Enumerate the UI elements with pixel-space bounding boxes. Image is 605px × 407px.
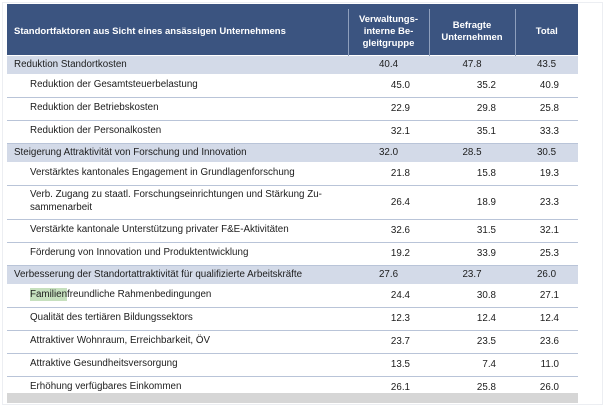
value-cell-total: 26.0 — [515, 265, 578, 284]
value-cell-verwaltung: 24.4 — [348, 284, 429, 307]
table-row: Qualität des tertiären Bildungssektors12… — [7, 307, 578, 330]
value-cell-total: 23.6 — [515, 330, 578, 353]
group-label-cell: Reduktion Standortkosten — [7, 55, 348, 74]
column-header-unternehmen-line-1: Befragte — [453, 20, 492, 31]
row-label-cell: Reduktion der Personalkosten — [7, 120, 348, 143]
table-row: Familienfreundliche Rahmenbedingungen24.… — [7, 284, 578, 307]
value-cell-unternehmen: 47.8 — [429, 55, 515, 74]
column-header-unternehmen: Befragte Unternehmen — [429, 9, 515, 55]
table-row: Verstärktes kantonales Engagement in Gru… — [7, 162, 578, 185]
column-header-unternehmen-line-2: Unternehmen — [441, 32, 502, 43]
table-row: Attraktive Gesundheitsversorgung13.57.41… — [7, 353, 578, 376]
table-container: Standortfaktoren aus Sicht eines ansässi… — [7, 4, 578, 400]
value-cell-verwaltung: 23.7 — [348, 330, 429, 353]
column-header-label: Standortfaktoren aus Sicht eines ansässi… — [7, 9, 348, 55]
value-cell-verwaltung: 12.3 — [348, 307, 429, 330]
value-cell-verwaltung: 32.6 — [348, 219, 429, 242]
value-cell-unternehmen: 35.1 — [429, 120, 515, 143]
table-group-row: Steigerung Attraktivität von Forschung u… — [7, 143, 578, 162]
value-cell-total: 25.8 — [515, 97, 578, 120]
row-label-cell: Förderung von Innovation und Produktentw… — [7, 242, 348, 265]
figure-canvas: Standortfaktoren aus Sicht eines ansässi… — [0, 0, 605, 407]
value-cell-unternehmen: 30.8 — [429, 284, 515, 307]
value-cell-total: 43.5 — [515, 55, 578, 74]
highlighted-text: Familien — [30, 288, 67, 301]
value-cell-total: 19.3 — [515, 162, 578, 185]
value-cell-total: 32.1 — [515, 219, 578, 242]
value-cell-verwaltung: 13.5 — [348, 353, 429, 376]
value-cell-unternehmen: 33.9 — [429, 242, 515, 265]
row-label-cell: Reduktion der Betriebskosten — [7, 97, 348, 120]
value-cell-unternehmen: 31.5 — [429, 219, 515, 242]
value-cell-unternehmen: 15.8 — [429, 162, 515, 185]
value-cell-unternehmen: 23.5 — [429, 330, 515, 353]
bottom-band — [7, 393, 578, 403]
value-cell-total: 30.5 — [515, 143, 578, 162]
table-row: Verstärkte kantonale Unterstützung priva… — [7, 219, 578, 242]
value-cell-unternehmen: 18.9 — [429, 185, 515, 219]
row-label-cell: Familienfreundliche Rahmenbedingungen — [7, 284, 348, 307]
group-label-cell: Steigerung Attraktivität von Forschung u… — [7, 143, 348, 162]
value-cell-verwaltung: 26.4 — [348, 185, 429, 219]
table-row: Reduktion der Betriebskosten22.929.825.8 — [7, 97, 578, 120]
table-row: Reduktion der Gesamtsteuerbelastung45.03… — [7, 74, 578, 97]
table-row: Attraktiver Wohnraum, Erreichbarkeit, ÖV… — [7, 330, 578, 353]
value-cell-unternehmen: 7.4 — [429, 353, 515, 376]
table-body: Reduktion Standortkosten40.447.843.5Redu… — [7, 55, 578, 399]
value-cell-total: 25.3 — [515, 242, 578, 265]
column-header-verwaltung-line-3: gleitgruppe — [363, 38, 415, 49]
row-label-cell: Qualität des tertiären Bildungssektors — [7, 307, 348, 330]
table-head: Standortfaktoren aus Sicht eines ansässi… — [7, 9, 578, 55]
value-cell-verwaltung: 32.1 — [348, 120, 429, 143]
table-row: Reduktion der Personalkosten32.135.133.3 — [7, 120, 578, 143]
value-cell-verwaltung: 40.4 — [348, 55, 429, 74]
row-label-cell: Reduktion der Gesamtsteuerbelastung — [7, 74, 348, 97]
value-cell-total: 40.9 — [515, 74, 578, 97]
row-label-text: freundliche Rahmenbedingungen — [67, 289, 211, 300]
group-label-cell: Verbesserung der Standortattraktivität f… — [7, 265, 348, 284]
table-row: Verb. Zugang zu staatl. Forschungseinric… — [7, 185, 578, 219]
table-group-row: Reduktion Standortkosten40.447.843.5 — [7, 55, 578, 74]
value-cell-verwaltung: 21.8 — [348, 162, 429, 185]
table-group-row: Verbesserung der Standortattraktivität f… — [7, 265, 578, 284]
value-cell-total: 23.3 — [515, 185, 578, 219]
column-header-verwaltung-line-2: interne Be- — [364, 26, 414, 37]
column-header-verwaltung: Verwaltungs- interne Be- gleitgruppe — [348, 9, 429, 55]
value-cell-total: 12.4 — [515, 307, 578, 330]
value-cell-unternehmen: 12.4 — [429, 307, 515, 330]
value-cell-unternehmen: 28.5 — [429, 143, 515, 162]
table-row: Förderung von Innovation und Produktentw… — [7, 242, 578, 265]
row-label-cell: Verstärkte kantonale Unterstützung priva… — [7, 219, 348, 242]
value-cell-verwaltung: 45.0 — [348, 74, 429, 97]
value-cell-total: 27.1 — [515, 284, 578, 307]
column-header-verwaltung-line-1: Verwaltungs- — [359, 14, 418, 25]
value-cell-total: 11.0 — [515, 353, 578, 376]
table-header-row: Standortfaktoren aus Sicht eines ansässi… — [7, 9, 578, 55]
value-cell-verwaltung: 19.2 — [348, 242, 429, 265]
location-factors-table: Standortfaktoren aus Sicht eines ansässi… — [7, 9, 578, 400]
row-label-cell: Verstärktes kantonales Engagement in Gru… — [7, 162, 348, 185]
row-label-cell: Attraktiver Wohnraum, Erreichbarkeit, ÖV — [7, 330, 348, 353]
value-cell-total: 33.3 — [515, 120, 578, 143]
column-header-total: Total — [515, 9, 578, 55]
row-label-cell: Attraktive Gesundheitsversorgung — [7, 353, 348, 376]
value-cell-unternehmen: 35.2 — [429, 74, 515, 97]
value-cell-verwaltung: 32.0 — [348, 143, 429, 162]
value-cell-unternehmen: 29.8 — [429, 97, 515, 120]
value-cell-verwaltung: 27.6 — [348, 265, 429, 284]
value-cell-verwaltung: 22.9 — [348, 97, 429, 120]
value-cell-unternehmen: 23.7 — [429, 265, 515, 284]
row-label-cell: Verb. Zugang zu staatl. Forschungseinric… — [7, 185, 348, 219]
